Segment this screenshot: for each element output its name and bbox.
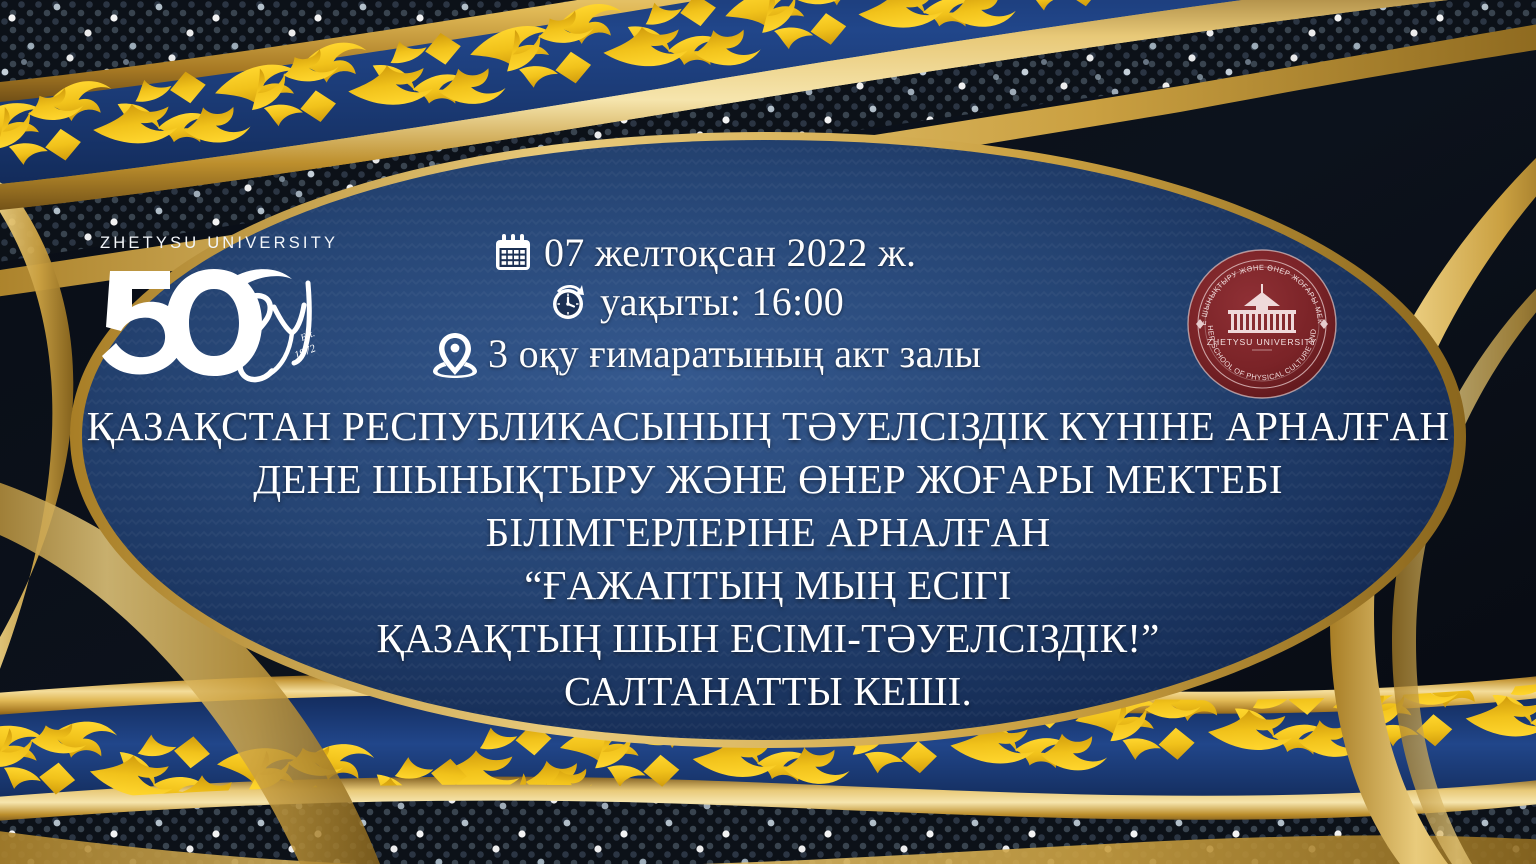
anniversary-logo-est-label: Est.	[298, 329, 316, 344]
headline-line-6: САЛТАНАТТЫ КЕШІ.	[0, 671, 1536, 712]
anniversary-logo-university-name: ZHETYSU UNIVERSITY	[100, 234, 336, 253]
event-info-time-line: уақыты: 16:00	[430, 281, 1110, 323]
event-info-venue-line: 3 оқу ғимаратының акт залы	[430, 330, 1110, 378]
event-info-block: 07 желтоқсан 2022 ж.	[430, 232, 1110, 378]
event-headline: ҚАЗАҚСТАН РЕСПУБЛИКАСЫНЫҢ ТӘУЕЛСІЗДІК КҮ…	[0, 406, 1536, 712]
anniversary-logo-est-year: 1972	[293, 342, 318, 362]
headline-line-5: ҚАЗАҚТЫҢ ШЫН ЕСІМІ-ТӘУЕЛСІЗДІК!”	[0, 618, 1536, 659]
clock-icon	[548, 281, 590, 323]
anniversary-logo-mark: Est. 1972	[96, 255, 336, 390]
location-pin-icon	[432, 330, 478, 378]
headline-line-1: ҚАЗАҚСТАН РЕСПУБЛИКАСЫНЫҢ ТӘУЕЛСІЗДІК КҮ…	[0, 406, 1536, 447]
headline-line-3: БІЛІМГЕРЛЕРІНЕ АРНАЛҒАН	[0, 512, 1536, 553]
headline-line-4: “ҒАЖАПТЫҢ МЫҢ ЕСІГІ	[0, 565, 1536, 606]
event-time-text: уақыты: 16:00	[600, 282, 844, 322]
anniversary-logo: ZHETYSU UNIVERSITY	[96, 234, 336, 399]
faculty-seal: ДЕНЕ ШЫНЫҚТЫРУ ЖӘНЕ ӨНЕР ЖОҒАРЫ МЕКТЕБІ …	[1186, 248, 1338, 400]
event-venue-text: 3 оқу ғимаратының акт залы	[488, 334, 981, 374]
anniversary-50-jyl-glyph: Est. 1972	[96, 255, 336, 390]
headline-line-2: ДЕНЕ ШЫНЫҚТЫРУ ЖӘНЕ ӨНЕР ЖОҒАРЫ МЕКТЕБІ	[0, 459, 1536, 500]
calendar-icon	[492, 232, 534, 274]
event-info-date-line: 07 желтоқсан 2022 ж.	[430, 232, 1110, 274]
poster-canvas: ZHETYSU UNIVERSITY	[0, 0, 1536, 864]
seal-center-text: ZHETYSU UNIVERSITY	[1207, 337, 1317, 347]
event-date-text: 07 желтоқсан 2022 ж.	[544, 233, 916, 273]
